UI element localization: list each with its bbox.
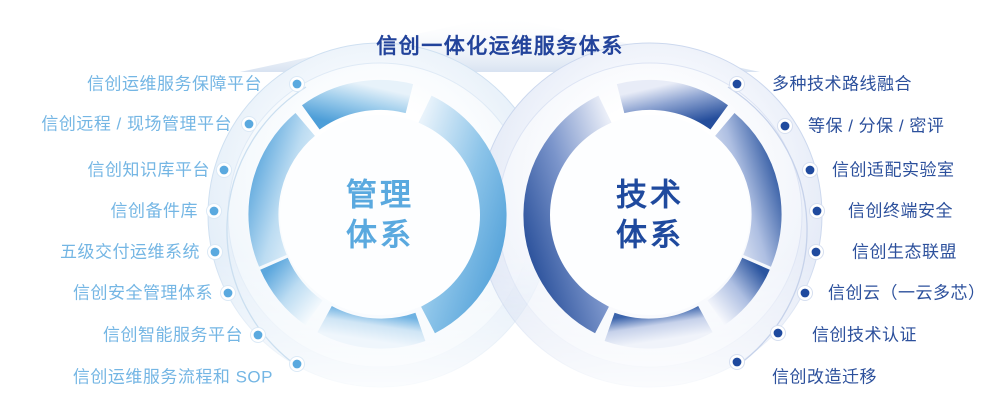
right-connector-dots-dot-2 [806,166,815,175]
right-label-2: 信创适配实验室 [832,162,955,179]
page-title: 信创一体化运维服务体系 [0,30,1000,60]
right-label-6: 信创技术认证 [812,327,917,344]
left-ring-caption-line1: 管理 [346,175,414,215]
right-ring-caption-line2: 体系 [616,215,684,255]
right-ring-caption: 技术 体系 [616,175,684,254]
left-connector-dots-dot-1 [245,120,254,129]
left-connector-dots-dot-7 [293,360,302,369]
right-label-4: 信创生态联盟 [852,244,957,261]
right-connector-dots-dot-3 [813,207,822,216]
right-label-7: 信创改造迁移 [772,369,877,386]
left-label-5: 信创安全管理体系 [73,285,213,302]
right-label-5: 信创云（一云多芯） [828,285,986,302]
right-connector-dots-dot-5 [801,289,810,298]
left-connector-dots-dot-3 [210,207,219,216]
infographic-canvas: 信创一体化运维服务体系 管理 体系 技术 体系 信创运维服务保障平台信创远程 /… [0,0,1000,408]
left-ring-caption: 管理 体系 [346,175,414,254]
right-ring-caption-line1: 技术 [616,175,684,215]
right-connector-dots-dot-6 [774,329,783,338]
left-connector-dots-dot-5 [224,289,233,298]
left-connector-dots-dot-6 [254,331,263,340]
left-connector-dots-dot-4 [211,248,220,257]
right-connector-dots-dot-0 [733,80,742,89]
right-connector-dots-dot-7 [733,358,742,367]
left-label-1: 信创远程 / 现场管理平台 [41,116,232,133]
left-label-6: 信创智能服务平台 [103,327,243,344]
left-label-0: 信创运维服务保障平台 [87,76,262,93]
right-connector-dots-dot-1 [781,122,790,131]
left-label-7: 信创运维服务流程和 SOP [73,369,273,386]
left-ring-caption-line2: 体系 [346,215,414,255]
left-connector-dots-dot-2 [220,166,229,175]
right-label-0: 多种技术路线融合 [772,76,912,93]
left-label-3: 信创备件库 [111,203,199,220]
right-connector-dots-dot-4 [812,248,821,257]
left-connector-dots-dot-0 [293,80,302,89]
right-label-1: 等保 / 分保 / 密评 [808,118,944,135]
right-label-3: 信创终端安全 [848,203,953,220]
left-label-2: 信创知识库平台 [88,162,211,179]
left-label-4: 五级交付运维系统 [60,244,200,261]
